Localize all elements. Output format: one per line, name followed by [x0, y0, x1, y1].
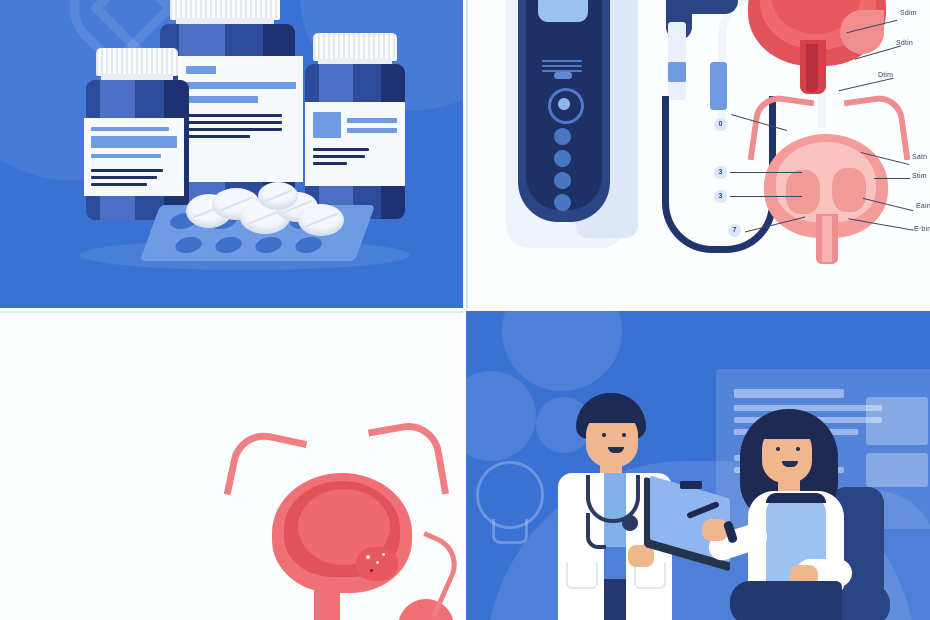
image-collage: Hon Dtim Sdim Sdtin Dtim 0 3 3 7 [0, 0, 930, 620]
bladder-trigone-right [832, 168, 866, 212]
stethoscope-tube [586, 513, 606, 549]
bottle-cap [313, 33, 397, 61]
device-button[interactable] [554, 194, 571, 211]
device-navpad[interactable] [548, 88, 584, 124]
bottle-label [178, 56, 303, 182]
panel-title: Bladder ApprocachesTawlorations [0, 311, 463, 620]
diagram-marker: 7 [728, 224, 741, 237]
patient-eye [776, 447, 780, 451]
pill [298, 204, 344, 236]
patient-legs [730, 581, 842, 620]
device-button[interactable] [554, 150, 571, 167]
doctor-fringe [578, 407, 640, 423]
bladder-diagram-bottom: 0 3 3 7 Satn Stim Eain E-bin [708, 96, 930, 266]
clipboard-clip [680, 481, 702, 489]
panel-device: Hon Dtim Sdim Sdtin Dtim 0 3 3 7 [466, 0, 930, 308]
leader-line [730, 196, 802, 197]
panel-edge [466, 0, 468, 308]
background-blob [502, 311, 622, 391]
background-blob [466, 371, 536, 461]
patient-fringe [756, 417, 818, 439]
patient-eye [796, 447, 800, 451]
device-button[interactable] [554, 128, 571, 145]
diagram-label: Stim [912, 173, 927, 180]
diagram-marker: 3 [714, 190, 727, 203]
diagram-marker: 0 [714, 118, 727, 131]
doctor-trousers [604, 579, 626, 620]
panel-medication [0, 0, 463, 308]
scope-shaft-band [668, 62, 686, 82]
bottle-cap [170, 0, 280, 20]
bladder-trigone-left [786, 170, 820, 214]
doctor-eye [602, 433, 606, 437]
diagram-label: Dtim [878, 72, 893, 79]
pill [258, 182, 298, 210]
device-indicator [554, 72, 572, 79]
diagram-label: Sdtin [896, 40, 913, 47]
device-button[interactable] [554, 172, 571, 189]
bladder-lesion-area [356, 547, 398, 581]
panel-consultation [466, 311, 930, 620]
leader-line [730, 172, 802, 173]
leader-line [839, 78, 894, 92]
device-grille-line [542, 65, 582, 67]
diagram-label: Eain [916, 203, 930, 210]
device-grille-line [542, 60, 582, 62]
panel-edge [0, 311, 463, 313]
stethoscope-chestpiece [622, 515, 638, 531]
patient-collar [766, 493, 826, 503]
bottle-label [305, 102, 405, 186]
leader-line [874, 178, 910, 179]
bladder-illustration [222, 429, 463, 620]
device-screen [538, 0, 588, 22]
urethra-lumen [822, 216, 832, 262]
urethra [314, 583, 340, 620]
diagram-label: E-bin [914, 226, 930, 233]
bottle-label [84, 118, 184, 196]
urethra-lumen [806, 44, 818, 92]
bottle-cap [96, 48, 178, 76]
coat-pocket [566, 563, 598, 589]
patient-figure [704, 409, 914, 620]
lightbulb-base-icon [492, 519, 528, 544]
diagram-label: Satn [912, 154, 927, 161]
diagram-marker: 3 [714, 166, 727, 179]
scope-shaft [668, 22, 686, 100]
diagram-label: Sdim [900, 10, 917, 17]
doctor-eye [622, 433, 626, 437]
